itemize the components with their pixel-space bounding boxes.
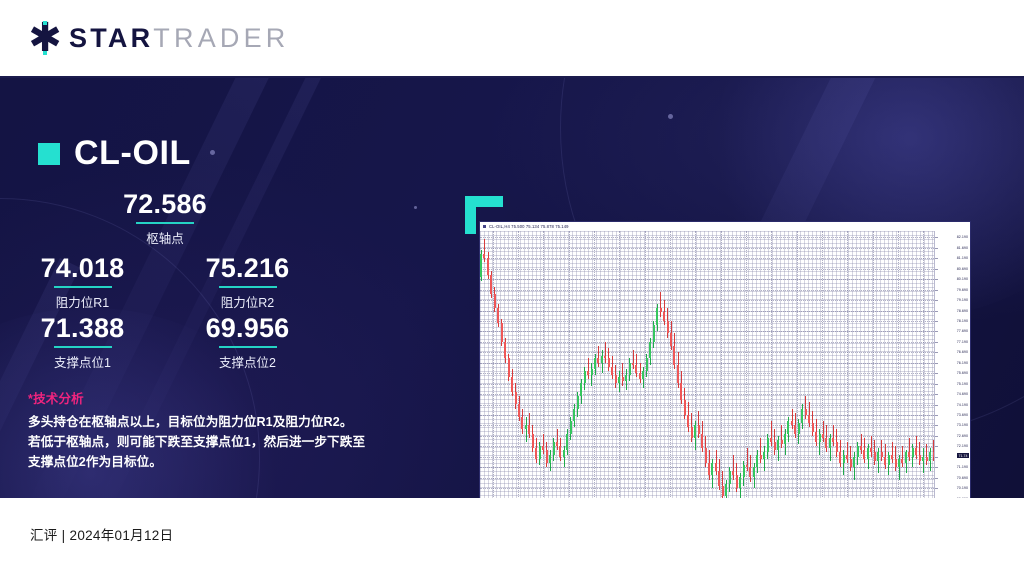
candlestick bbox=[549, 450, 551, 471]
candlestick bbox=[781, 425, 783, 448]
price-tick-label: 72.190 bbox=[957, 444, 968, 448]
candlestick bbox=[774, 429, 776, 454]
candlestick bbox=[832, 425, 834, 446]
pivot-label: 枢轴点 bbox=[0, 228, 330, 247]
candlestick bbox=[888, 452, 890, 475]
candlestick bbox=[542, 434, 544, 455]
candlestick bbox=[490, 271, 492, 298]
candlestick bbox=[843, 450, 845, 475]
candlestick bbox=[705, 436, 707, 467]
candlestick bbox=[597, 346, 599, 367]
candlestick bbox=[853, 452, 855, 479]
candlestick bbox=[829, 434, 831, 461]
candlestick bbox=[635, 354, 637, 377]
support-1-block: 71.388 支撑点位1 bbox=[0, 314, 165, 371]
candlestick bbox=[539, 442, 541, 465]
candlestick bbox=[819, 429, 821, 454]
candlestick bbox=[511, 369, 513, 396]
candlestick-series bbox=[480, 231, 934, 498]
candlestick bbox=[794, 413, 796, 438]
support-2-underline bbox=[219, 346, 277, 348]
price-tick-label: 74.190 bbox=[957, 403, 968, 407]
candlestick bbox=[483, 239, 485, 262]
candlestick bbox=[825, 425, 827, 452]
candlestick bbox=[919, 442, 921, 465]
candlestick bbox=[749, 455, 751, 482]
candlestick bbox=[822, 421, 824, 442]
candlestick bbox=[743, 461, 745, 486]
candlestick bbox=[777, 436, 779, 461]
price-tick-label: 72.690 bbox=[957, 434, 968, 438]
candlestick bbox=[836, 429, 838, 456]
resistance-row: 74.018 阻力位R1 75.216 阻力位R2 bbox=[0, 254, 330, 311]
candlestick bbox=[694, 421, 696, 450]
support-row: 71.388 支撑点位1 69.956 支撑点位2 bbox=[0, 314, 330, 371]
candlestick bbox=[580, 379, 582, 404]
candlestick bbox=[649, 338, 651, 365]
support-1-label: 支撑点位1 bbox=[0, 352, 165, 371]
candlestick bbox=[591, 363, 593, 386]
candlestick bbox=[850, 446, 852, 471]
candlestick bbox=[839, 440, 841, 467]
candlestick bbox=[559, 438, 561, 461]
candlestick bbox=[501, 319, 503, 346]
resistance-1-label: 阻力位R1 bbox=[0, 292, 165, 311]
candlestick bbox=[725, 480, 727, 498]
support-2-value: 69.956 bbox=[165, 314, 330, 342]
brand-logo: ✱ STAR TRADER bbox=[28, 21, 290, 55]
candlestick bbox=[587, 358, 589, 379]
candlestick bbox=[801, 404, 803, 429]
candlestick bbox=[677, 352, 679, 388]
candlestick bbox=[895, 446, 897, 471]
candlestick bbox=[898, 455, 900, 480]
candlestick bbox=[708, 450, 710, 479]
candlestick bbox=[912, 444, 914, 467]
candlestick bbox=[497, 304, 499, 327]
chart-title-text: CL-OIL,H4 75.500 75.134 75.878 75.149 bbox=[489, 224, 569, 229]
candlestick bbox=[504, 338, 506, 363]
candlestick bbox=[577, 392, 579, 417]
price-tick-label: 75.690 bbox=[957, 371, 968, 375]
candlestick bbox=[739, 473, 741, 498]
price-tick-label: 74.690 bbox=[957, 392, 968, 396]
candlestick bbox=[905, 450, 907, 473]
pivot-underline bbox=[136, 222, 194, 224]
price-tick-label: 70.190 bbox=[957, 486, 968, 490]
candlestick bbox=[611, 356, 613, 379]
candlestick bbox=[604, 342, 606, 363]
support-1-underline bbox=[54, 346, 112, 348]
page-header: ✱ STAR TRADER bbox=[0, 0, 1024, 76]
footer-text: 汇评 | 2024年01月12日 bbox=[30, 524, 173, 544]
candlestick bbox=[860, 434, 862, 455]
price-chart-panel[interactable]: CL-OIL,H4 75.500 75.134 75.878 75.149 82… bbox=[479, 221, 971, 498]
candlestick bbox=[594, 354, 596, 375]
candlestick bbox=[815, 419, 817, 446]
candlestick bbox=[642, 367, 644, 388]
candlestick bbox=[787, 417, 789, 442]
candlestick bbox=[722, 471, 724, 498]
resistance-1-value: 74.018 bbox=[0, 254, 165, 282]
resistance-1-block: 74.018 阻力位R1 bbox=[0, 254, 165, 311]
candlestick bbox=[684, 388, 686, 419]
candlestick bbox=[908, 438, 910, 461]
brand-name-bold: STAR bbox=[69, 23, 153, 54]
support-1-value: 71.388 bbox=[0, 314, 165, 342]
price-tick-label: 79.190 bbox=[957, 298, 968, 302]
chart-plot-area[interactable] bbox=[480, 231, 934, 498]
candlestick bbox=[584, 367, 586, 390]
price-tick-label: 80.190 bbox=[957, 277, 968, 281]
page-footer: 汇评 | 2024年01月12日 bbox=[0, 498, 1024, 576]
candlestick bbox=[553, 438, 555, 461]
instrument-symbol: CL-OIL bbox=[74, 134, 191, 173]
candlestick bbox=[691, 413, 693, 442]
candlestick bbox=[732, 455, 734, 480]
candlestick bbox=[687, 402, 689, 431]
candlestick bbox=[532, 425, 534, 452]
candlestick bbox=[784, 429, 786, 454]
candlestick bbox=[863, 438, 865, 463]
price-tick-label: 81.190 bbox=[957, 256, 968, 260]
candlestick bbox=[926, 444, 928, 465]
candlestick bbox=[857, 442, 859, 465]
candlestick bbox=[767, 434, 769, 459]
candlestick bbox=[770, 421, 772, 446]
candlestick bbox=[870, 436, 872, 457]
candlestick bbox=[881, 440, 883, 461]
resistance-2-underline bbox=[219, 286, 277, 288]
price-tick-label: 80.690 bbox=[957, 267, 968, 271]
candlestick bbox=[746, 448, 748, 471]
chart-price-axis: 82.19081.69081.19080.69080.19079.69079.1… bbox=[934, 231, 970, 498]
pivot-block: 72.586 枢轴点 bbox=[0, 190, 330, 247]
analysis-line-3: 支撑点位2作为目标位。 bbox=[28, 453, 408, 473]
candlestick bbox=[805, 396, 807, 419]
candlestick bbox=[760, 438, 762, 463]
hero-stage: CL-OIL 72.586 枢轴点 74.018 阻力位R1 75.216 阻力… bbox=[0, 78, 1024, 498]
price-tick-label: 73.690 bbox=[957, 413, 968, 417]
candlestick bbox=[494, 287, 496, 312]
candlestick bbox=[901, 446, 903, 467]
price-tick-label: 75.190 bbox=[957, 382, 968, 386]
candlestick bbox=[915, 436, 917, 459]
brand-name-light: TRADER bbox=[153, 23, 289, 54]
price-tick-label: 81.690 bbox=[957, 246, 968, 250]
candlestick bbox=[546, 442, 548, 467]
candlestick bbox=[632, 350, 634, 369]
asterisk-logo-icon: ✱ bbox=[28, 21, 62, 55]
candlestick bbox=[573, 404, 575, 427]
candlestick bbox=[518, 396, 520, 421]
candlestick bbox=[791, 409, 793, 430]
candlestick bbox=[698, 411, 700, 438]
instrument-marker-icon bbox=[38, 143, 60, 165]
candlestick bbox=[670, 321, 672, 350]
candlestick bbox=[701, 421, 703, 452]
candlestick bbox=[680, 371, 682, 404]
price-tick-label: 77.190 bbox=[957, 340, 968, 344]
candlestick bbox=[480, 250, 482, 281]
instrument-title: CL-OIL bbox=[38, 134, 191, 173]
candlestick bbox=[660, 292, 662, 317]
resistance-1-underline bbox=[54, 286, 112, 288]
price-tick-label: 76.190 bbox=[957, 361, 968, 365]
candlestick bbox=[729, 467, 731, 492]
candlestick bbox=[528, 413, 530, 438]
price-tick-label: 76.690 bbox=[957, 350, 968, 354]
candlestick bbox=[867, 444, 869, 469]
price-tick-label: 78.690 bbox=[957, 309, 968, 313]
candlestick bbox=[566, 429, 568, 454]
candlestick bbox=[891, 442, 893, 463]
candlestick bbox=[877, 448, 879, 473]
support-2-block: 69.956 支撑点位2 bbox=[165, 314, 330, 371]
candlestick bbox=[508, 354, 510, 381]
price-tick-label: 73.190 bbox=[957, 423, 968, 427]
analysis-line-2: 若低于枢轴点，则可能下跌至支撑点位1，然后进一步下跌至 bbox=[28, 433, 408, 453]
candlestick bbox=[798, 419, 800, 444]
candlestick bbox=[618, 371, 620, 392]
candlestick bbox=[673, 333, 675, 369]
candlestick bbox=[763, 446, 765, 471]
chart-title-bar: CL-OIL,H4 75.500 75.134 75.878 75.149 bbox=[480, 222, 970, 231]
resistance-2-block: 75.216 阻力位R2 bbox=[165, 254, 330, 311]
candlestick bbox=[525, 417, 527, 442]
candlestick bbox=[622, 363, 624, 386]
analysis-body: 多头持仓在枢轴点以上，目标位为阻力位R1及阻力位R2。 若低于枢轴点，则可能下跌… bbox=[28, 413, 408, 473]
price-tick-label: 77.690 bbox=[957, 329, 968, 333]
candlestick bbox=[711, 459, 713, 488]
resistance-2-label: 阻力位R2 bbox=[165, 292, 330, 311]
candlestick bbox=[812, 411, 814, 436]
candlestick bbox=[615, 365, 617, 388]
candlestick bbox=[556, 429, 558, 450]
candlestick bbox=[667, 308, 669, 337]
candlestick bbox=[736, 463, 738, 492]
price-tick-label: 78.190 bbox=[957, 319, 968, 323]
resistance-2-value: 75.216 bbox=[165, 254, 330, 282]
candlestick bbox=[874, 440, 876, 465]
candlestick bbox=[922, 448, 924, 473]
price-tick-label: 70.690 bbox=[957, 476, 968, 480]
candlestick bbox=[608, 348, 610, 371]
candlestick bbox=[756, 450, 758, 473]
candlestick bbox=[563, 446, 565, 467]
current-price-tag: 71.74 bbox=[957, 453, 969, 458]
candlestick bbox=[753, 463, 755, 488]
analysis-heading: *技术分析 bbox=[28, 388, 408, 407]
candlestick bbox=[521, 409, 523, 434]
analysis-line-1: 多头持仓在枢轴点以上，目标位为阻力位R1及阻力位R2。 bbox=[28, 413, 408, 433]
candlestick bbox=[884, 444, 886, 469]
pivot-value: 72.586 bbox=[0, 190, 330, 218]
support-2-label: 支撑点位2 bbox=[165, 352, 330, 371]
candlestick bbox=[487, 252, 489, 279]
candlestick bbox=[929, 448, 931, 471]
price-tick-label: 82.190 bbox=[957, 235, 968, 239]
candlestick bbox=[570, 417, 572, 440]
candlestick bbox=[646, 354, 648, 377]
candlestick bbox=[601, 350, 603, 373]
chart-title-bullet-icon bbox=[483, 225, 486, 228]
candlestick bbox=[656, 304, 658, 331]
candlestick bbox=[808, 402, 810, 427]
candlestick bbox=[625, 369, 627, 390]
candlestick bbox=[653, 321, 655, 348]
price-tick-label: 71.190 bbox=[957, 465, 968, 469]
candlestick bbox=[639, 363, 641, 384]
candlestick bbox=[846, 442, 848, 463]
candlestick bbox=[629, 358, 631, 381]
candlestick bbox=[515, 383, 517, 408]
candlestick bbox=[718, 459, 720, 490]
candlestick bbox=[715, 450, 717, 475]
candlestick bbox=[535, 438, 537, 463]
candlestick bbox=[663, 300, 665, 325]
price-tick-label: 79.690 bbox=[957, 288, 968, 292]
technical-analysis: *技术分析 多头持仓在枢轴点以上，目标位为阻力位R1及阻力位R2。 若低于枢轴点… bbox=[28, 388, 408, 473]
